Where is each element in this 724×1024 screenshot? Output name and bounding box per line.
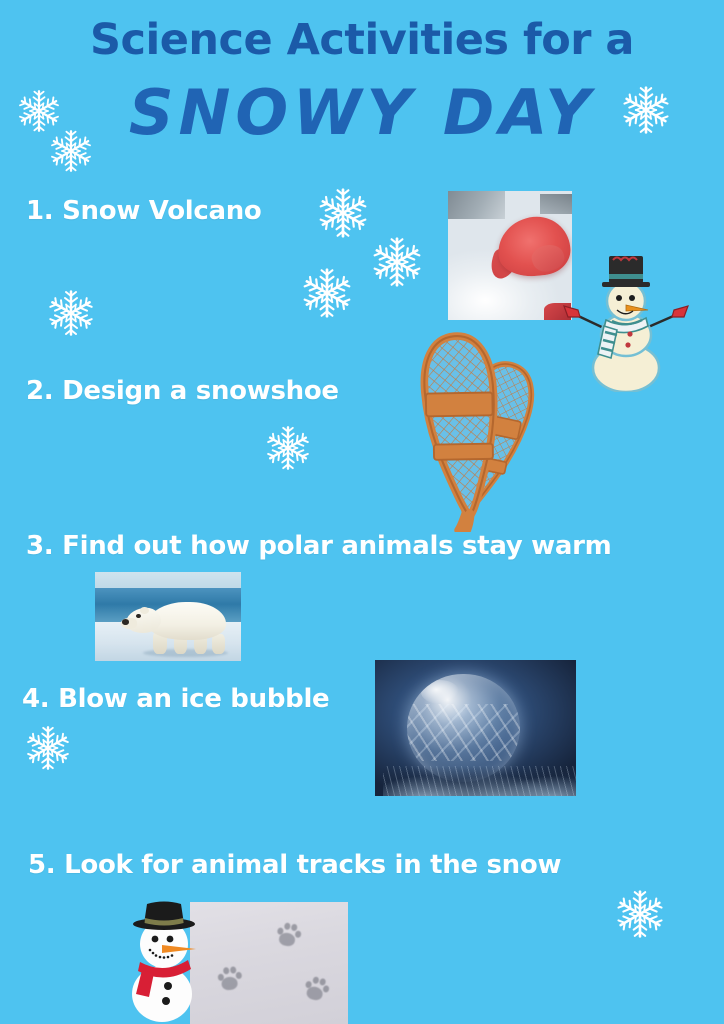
ice-bubble-photo bbox=[375, 660, 576, 796]
snow-volcano-photo bbox=[448, 191, 572, 320]
page-subtitle: SNOWY DAY bbox=[0, 82, 724, 144]
page-title: Science Activities for a bbox=[0, 18, 724, 63]
snowflake-icon bbox=[300, 266, 354, 320]
poster-canvas: Science Activities for a SNOWY DAY 1. Sn… bbox=[0, 0, 724, 1024]
activity-item-5: 5. Look for animal tracks in the snow bbox=[28, 850, 561, 880]
snowman-red-scarf-illustration bbox=[120, 898, 208, 1024]
activity-item-3: 3. Find out how polar animals stay warm bbox=[26, 531, 611, 561]
snowflake-icon bbox=[316, 186, 370, 240]
activity-item-4: 4. Blow an ice bubble bbox=[22, 684, 329, 714]
polar-bear-photo bbox=[95, 572, 241, 661]
snowflake-icon bbox=[46, 288, 96, 338]
animal-tracks-photo bbox=[190, 902, 348, 1024]
snowshoes-illustration bbox=[408, 332, 578, 532]
activity-item-2: 2. Design a snowshoe bbox=[26, 376, 339, 406]
activity-item-1: 1. Snow Volcano bbox=[26, 196, 262, 226]
snowman-top-hat-illustration bbox=[560, 252, 692, 392]
snowflake-icon bbox=[264, 424, 312, 472]
snowflake-icon bbox=[614, 888, 666, 940]
snowflake-icon bbox=[370, 235, 424, 289]
snowflake-icon bbox=[24, 724, 72, 772]
